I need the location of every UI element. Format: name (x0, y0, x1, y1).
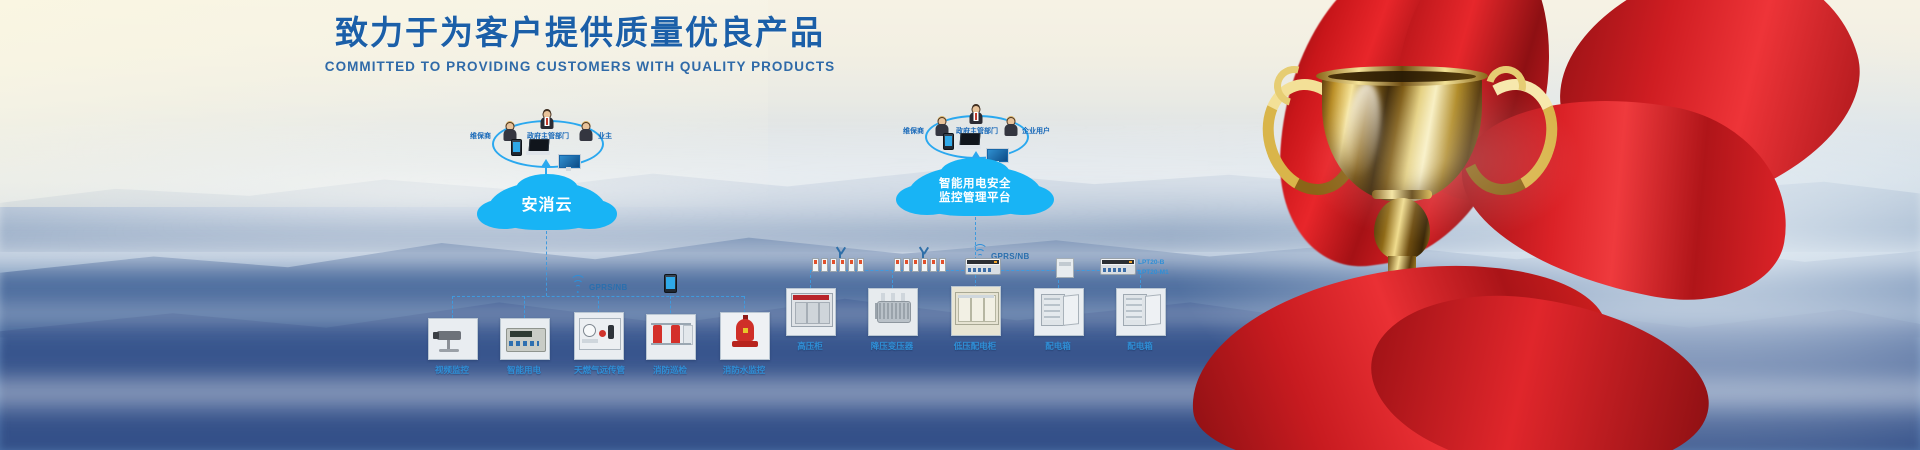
platform-label-line2: 监控管理平台 (939, 191, 1011, 205)
promo-banner: 致力于为客户提供质量优良产品 COMMITTED TO PROVIDING CU… (0, 0, 1920, 450)
trophy-rim-inner (1328, 71, 1476, 82)
device-label: 低压配电柜 (951, 340, 999, 352)
distribution-box-icon (1034, 288, 1084, 336)
laptop-icon (957, 133, 981, 149)
user-label-maintainer: 维保商 (903, 126, 924, 136)
device-tile-distribution-box-1: 配电箱 (1034, 288, 1082, 352)
meter-icon-1 (965, 258, 1001, 275)
page-subtitle: COMMITTED TO PROVIDING CUSTOMERS WITH QU… (0, 59, 1160, 74)
person-icon-enterprise (1003, 117, 1018, 136)
platform-node-power-cloud: 智能用电安全 监控管理平台 (908, 166, 1042, 216)
trophy-stem-knob (1374, 198, 1430, 260)
trophy-graphic (1130, 0, 1650, 450)
device-label: 高压柜 (786, 340, 834, 352)
device-label: 配电箱 (1034, 340, 1082, 352)
breaker-strip-1 (812, 258, 864, 272)
lv-cabinet-icon (951, 286, 1001, 336)
device-tile-transformer: 降压变压器 (868, 288, 916, 352)
user-label-enterprise: 企业用户 (1022, 126, 1050, 136)
breaker-strip-2 (894, 258, 946, 272)
mini-enclosure-icon (1056, 258, 1074, 278)
transformer-icon (868, 288, 918, 336)
platform-label-line1: 智能用电安全 (939, 177, 1011, 191)
page-title: 致力于为客户提供质量优良产品 (0, 14, 1160, 52)
bus-drop-1 (810, 270, 811, 288)
switchgear-icon (786, 288, 836, 336)
headline-block: 致力于为客户提供质量优良产品 COMMITTED TO PROVIDING CU… (0, 14, 1160, 74)
device-label: 降压变压器 (868, 340, 916, 352)
bus-drop-2 (892, 270, 893, 288)
person-icon-government (968, 105, 983, 124)
phone-icon (943, 133, 954, 150)
device-tile-switchgear: 高压柜 (786, 288, 834, 352)
device-tile-lv-cabinet: 低压配电柜 (951, 286, 999, 352)
